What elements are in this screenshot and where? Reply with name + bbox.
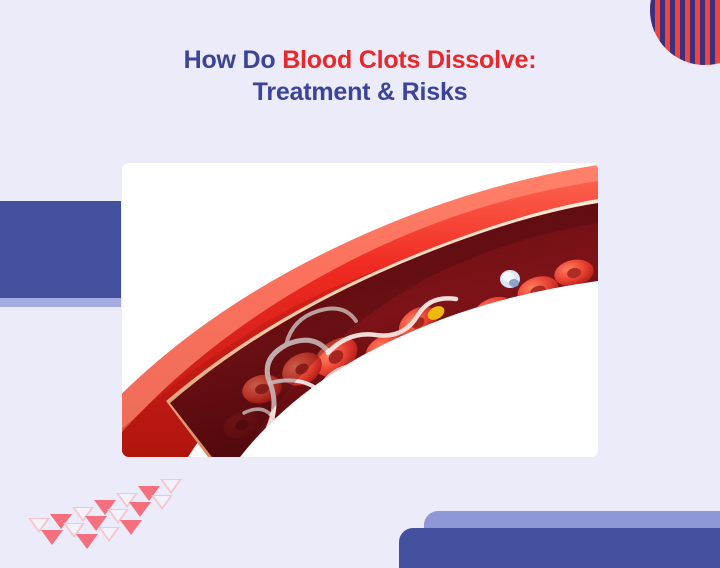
title-line-1: How Do Blood Clots Dissolve: xyxy=(0,44,720,76)
bottom-right-rectangle-decoration xyxy=(399,528,720,568)
blood-vessel-illustration xyxy=(122,163,598,457)
white-blood-cell xyxy=(500,270,520,288)
triangle-glyph xyxy=(151,495,173,510)
triangle-glyph xyxy=(120,520,142,535)
slide-canvas: How Do Blood Clots Dissolve: Treatment &… xyxy=(0,0,720,568)
triangle-glyph xyxy=(98,527,120,542)
title-text-navy: How Do xyxy=(184,46,283,74)
triangle-glyph xyxy=(160,479,182,494)
triangle-pattern-decoration xyxy=(24,474,194,546)
title-line-2: Treatment & Risks xyxy=(0,76,720,108)
triangle-glyph xyxy=(129,502,151,517)
left-rectangle-decoration xyxy=(0,201,121,298)
title-text-highlight: Blood Clots Dissolve: xyxy=(282,46,536,74)
triangle-glyph xyxy=(41,530,63,545)
triangle-glyph xyxy=(76,534,98,549)
page-title: How Do Blood Clots Dissolve: Treatment &… xyxy=(0,44,720,108)
hero-image-card xyxy=(122,163,598,457)
